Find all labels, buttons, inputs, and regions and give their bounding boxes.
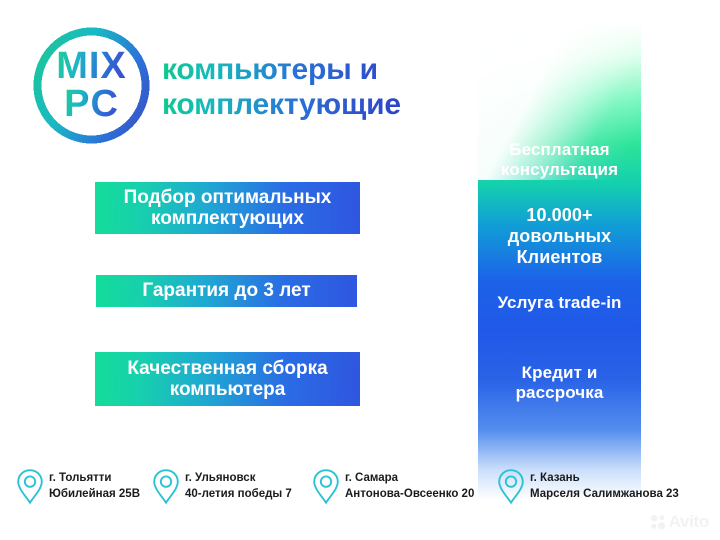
map-pin-icon	[152, 468, 180, 505]
location-address: Юбилейная 25В	[49, 487, 140, 502]
map-pin-icon	[16, 468, 44, 505]
logo-line-mix: MIX	[56, 48, 127, 85]
location-text: г. Самара Антонова-Овсеенко 20	[345, 471, 474, 501]
location-address: Антонова-Овсеенко 20	[345, 487, 474, 502]
location-city: г. Тольятти	[49, 471, 140, 486]
location-city: г. Казань	[530, 471, 679, 486]
benefit-trade-in: Услуга trade-in	[478, 293, 641, 313]
feature-bar-2: Гарантия до 3 лет	[96, 275, 357, 307]
benefit-consultation: Бесплатная консультация	[478, 140, 641, 179]
map-pin-icon	[312, 468, 340, 505]
location-item-kazan: г. Казань Марселя Салимжанова 23	[497, 468, 679, 505]
location-text: г. Ульяновск 40-летия победы 7	[185, 471, 292, 501]
location-item-samara: г. Самара Антонова-Овсеенко 20	[312, 468, 474, 505]
location-text: г. Тольятти Юбилейная 25В	[49, 471, 140, 501]
location-item-tolyatti: г. Тольятти Юбилейная 25В	[16, 468, 140, 505]
promo-banner: Бесплатная консультация 10.000+ довольны…	[0, 0, 720, 540]
brand-logo: MIX PC	[33, 27, 150, 144]
feature-bar-3: Качественная сборка компьютера	[95, 352, 360, 406]
logo-line-pc: PC	[64, 86, 119, 123]
avito-logo-icon	[650, 514, 666, 530]
location-address: Марселя Салимжанова 23	[530, 487, 679, 502]
benefit-clients: 10.000+ довольных Клиентов	[478, 205, 641, 268]
benefit-credit: Кредит и рассрочка	[478, 363, 641, 402]
avito-wordmark: Avito	[669, 512, 709, 532]
page-title: компьютеры и комплектующие	[162, 52, 492, 123]
feature-bar-1: Подбор оптимальных комплектующих	[95, 182, 360, 234]
location-item-ulyanovsk: г. Ульяновск 40-летия победы 7	[152, 468, 292, 505]
location-city: г. Ульяновск	[185, 471, 292, 486]
logo-text: MIX PC	[33, 27, 150, 144]
location-address: 40-летия победы 7	[185, 487, 292, 502]
avito-watermark: Avito	[650, 512, 709, 532]
location-city: г. Самара	[345, 471, 474, 486]
map-pin-icon	[497, 468, 525, 505]
location-text: г. Казань Марселя Салимжанова 23	[530, 471, 679, 501]
